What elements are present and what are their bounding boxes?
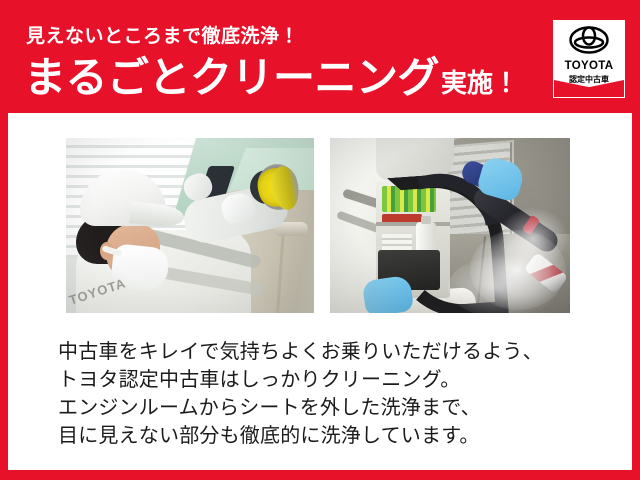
headline: まるごとクリーニング実施！: [24, 57, 519, 99]
copy-line: トヨタ認定中古車はしっかりクリーニング。: [58, 366, 598, 394]
header-band: 見えないところまで徹底洗浄！ まるごとクリーニング実施！ TOYOTA 認定中古…: [0, 0, 640, 113]
copy-line: 中古車をキレイで気持ちよくお乗りいただけるよう、: [58, 338, 598, 366]
promo-poster: 見えないところまで徹底洗浄！ まるごとクリーニング実施！ TOYOTA 認定中古…: [0, 0, 640, 480]
kicker-text: 見えないところまで徹底洗浄！: [26, 27, 299, 46]
toyota-ellipse-icon: [569, 26, 609, 59]
copy-line: エンジンルームからシートを外した洗浄まで、: [58, 394, 598, 422]
content-card: TOYOTA: [8, 113, 632, 470]
headline-main: まるごとクリーニング: [24, 54, 439, 101]
toyota-certified-logo: TOYOTA 認定中古車: [553, 20, 625, 98]
headline-suffix: 実施！: [441, 68, 519, 98]
copy-line: 目に見えない部分も徹底的に洗浄しています。: [58, 422, 598, 450]
photo-steam-cleaning: [330, 138, 570, 313]
body-copy: 中古車をキレイで気持ちよくお乗りいただけるよう、 トヨタ認定中古車はしっかりクリ…: [58, 338, 598, 450]
toyota-subtitle: 認定中古車: [569, 76, 609, 84]
photo-row: TOYOTA: [66, 138, 570, 313]
photo-polishing: TOYOTA: [66, 138, 314, 313]
toyota-wordmark: TOYOTA: [565, 61, 614, 73]
